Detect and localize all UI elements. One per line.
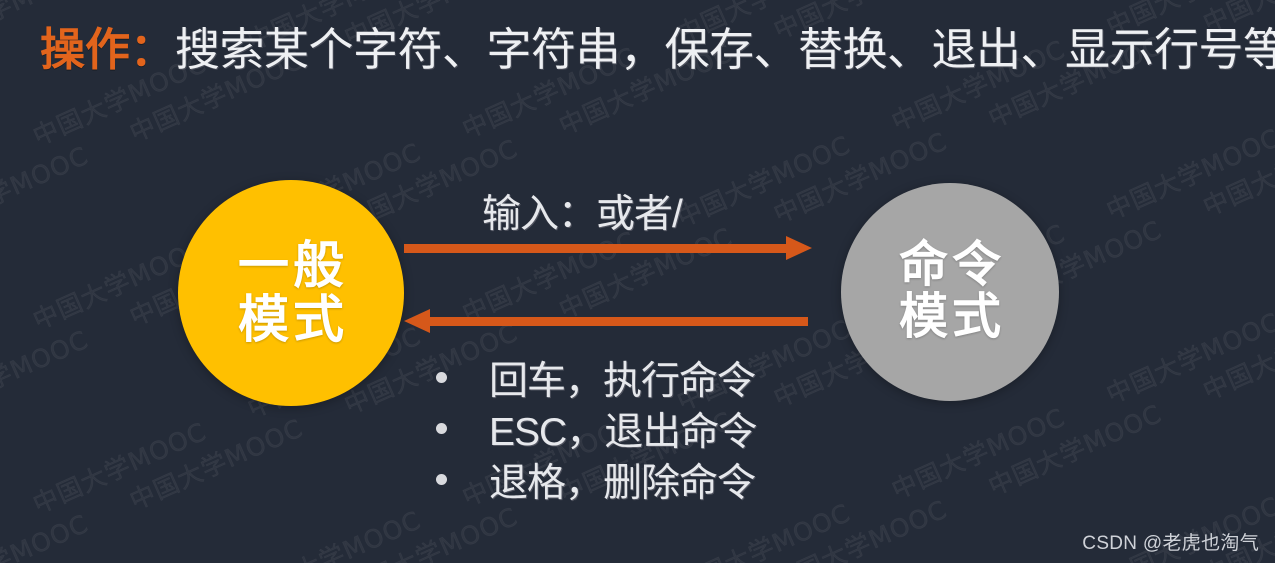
footer-credit: CSDN @老虎也淘气	[1082, 528, 1259, 555]
normal-mode-label-line2: 模式	[234, 293, 348, 347]
slide-content: 操作： 搜索某个字符、字符串，保存、替换、退出、显示行号等。 一般 模式 命令 …	[0, 0, 1275, 563]
bullet-dot-icon	[436, 372, 447, 383]
arrow-to-command-label: 输入：或者/	[482, 183, 682, 239]
arrow-shaft	[404, 244, 788, 253]
normal-mode-label-line1: 一般	[234, 239, 348, 293]
title-description: 搜索某个字符、字符串，保存、替换、退出、显示行号等。	[175, 13, 1275, 78]
command-mode-key-list: 回车，执行命令 ESC，退出命令 退格，删除命令	[436, 352, 886, 505]
list-item: ESC，退出命令	[436, 403, 886, 454]
bullet-dot-icon	[436, 474, 447, 485]
bullet-dot-icon	[436, 423, 447, 434]
list-item-label: 退格，删除命令	[489, 452, 755, 508]
list-item: 回车，执行命令	[436, 352, 886, 403]
arrow-head	[786, 236, 812, 260]
list-item-label: 回车，执行命令	[489, 350, 755, 406]
command-mode-label-line2: 模式	[895, 292, 1005, 344]
list-item: 退格，删除命令	[436, 454, 886, 505]
arrow-head	[404, 309, 430, 333]
title-keyword: 操作：	[40, 13, 175, 78]
arrow-shaft	[430, 317, 808, 326]
page-title: 操作： 搜索某个字符、字符串，保存、替换、退出、显示行号等。	[40, 13, 1265, 77]
command-mode-label-line1: 命令	[895, 240, 1005, 292]
list-item-label: ESC，退出命令	[489, 401, 756, 457]
slide-canvas: 中国大学MOOC中国大学MOOC中国大学MOOC中国大学MOOC中国大学MOOC…	[0, 0, 1275, 563]
normal-mode-node[interactable]: 一般 模式	[178, 180, 404, 406]
